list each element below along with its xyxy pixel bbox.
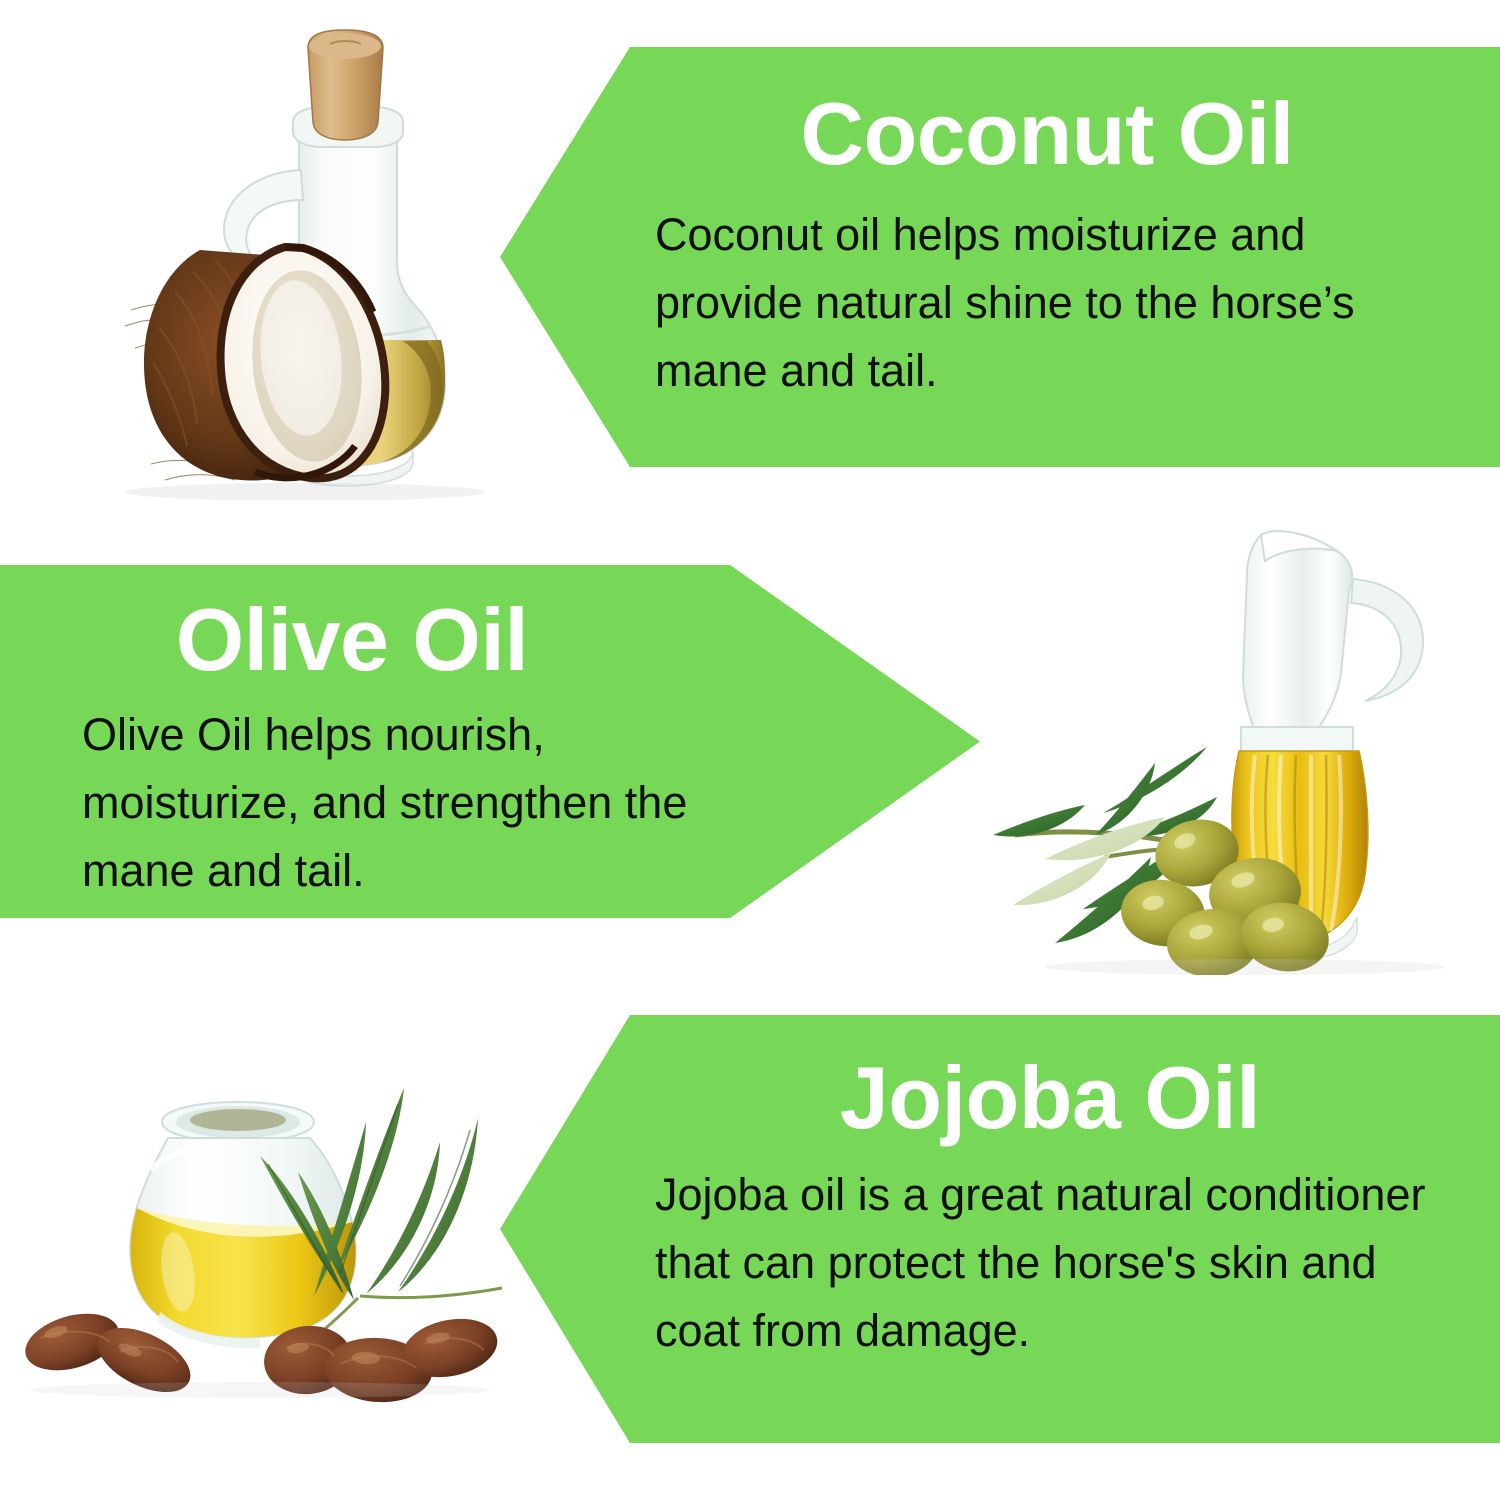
coconut-oil-illustration xyxy=(55,10,535,500)
jojoba-oil-image xyxy=(10,1060,540,1450)
jojoba-oil-illustration xyxy=(10,1060,540,1450)
panel-content: Olive Oil Olive Oil helps nourish, moist… xyxy=(82,595,772,905)
panel-body-jojoba: Jojoba oil is a great natural conditione… xyxy=(655,1161,1455,1365)
infographic-canvas: Coconut Oil Coconut oil helps moisturize… xyxy=(0,0,1500,1500)
panel-content: Coconut Oil Coconut oil helps moisturize… xyxy=(655,89,1445,405)
panel-title-jojoba: Jojoba Oil xyxy=(655,1053,1455,1143)
panel-body-olive: Olive Oil helps nourish, moisturize, and… xyxy=(82,701,772,905)
olive-oil-image xyxy=(955,505,1485,975)
panel-content: Jojoba Oil Jojoba oil is a great natural… xyxy=(655,1053,1455,1365)
panel-coconut-oil: Coconut Oil Coconut oil helps moisturize… xyxy=(500,47,1500,467)
olive-oil-illustration xyxy=(955,505,1485,975)
panel-olive-oil: Olive Oil Olive Oil helps nourish, moist… xyxy=(0,565,980,918)
coconut-half xyxy=(125,247,385,481)
panel-title-olive: Olive Oil xyxy=(82,595,772,685)
coconut-oil-image xyxy=(55,10,535,500)
cork-stopper xyxy=(308,30,383,140)
panel-title-coconut: Coconut Oil xyxy=(655,89,1445,179)
panel-body-coconut: Coconut oil helps moisturize and provide… xyxy=(655,201,1445,405)
panel-jojoba-oil: Jojoba Oil Jojoba oil is a great natural… xyxy=(500,1015,1500,1443)
